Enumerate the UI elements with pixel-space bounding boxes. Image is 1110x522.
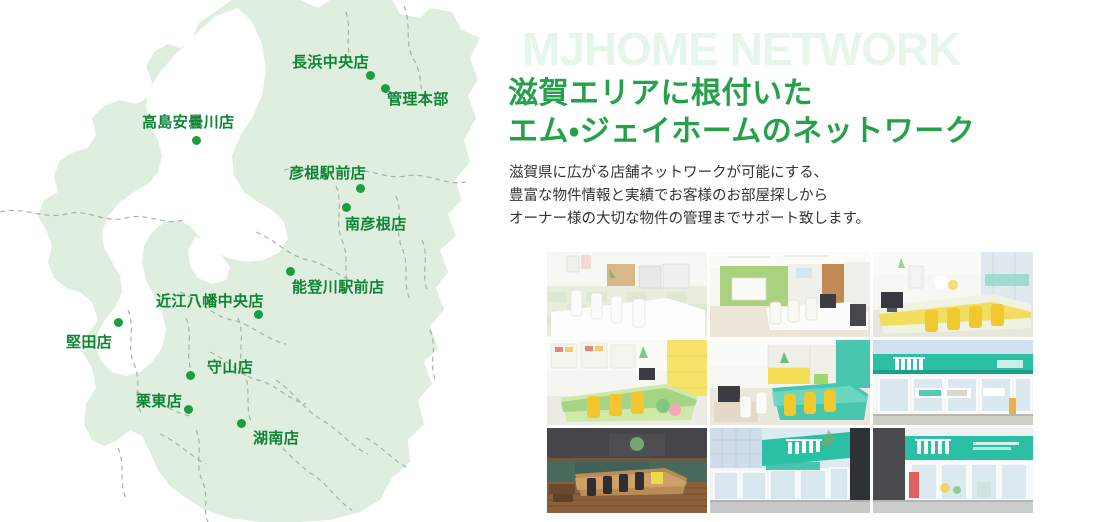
map-store-label[interactable]: 長浜中央店 [292,55,369,70]
map-store-label[interactable]: 管理本部 [387,92,449,107]
shiga-map-graphic [0,0,500,522]
headline-line-2: エム・ジェイホームのネットワーク [508,113,975,151]
map-marker-dot[interactable] [184,405,193,414]
map-store-label[interactable]: 彦根駅前店 [289,166,366,181]
map-marker-dot[interactable] [114,318,123,327]
lead-line-3: オーナー様の大切な物件の管理までサポート致します。 [509,208,870,231]
map-marker-dot[interactable] [366,71,375,80]
map-marker-dot[interactable] [342,203,351,212]
map-store-label[interactable]: 守山店 [207,360,253,375]
map-marker-dot[interactable] [192,136,201,145]
page-root: 長浜中央店管理本部高島安曇川店彦根駅前店南彦根店能登川駅前店近江八幡中央店堅田店… [0,0,1110,522]
map-store-label[interactable]: 近江八幡中央店 [156,294,264,309]
store-photo[interactable] [710,428,870,513]
map-marker-dot[interactable] [237,419,246,428]
headline-line-1: 滋賀エリアに根付いた [508,75,975,113]
store-photo[interactable] [710,340,870,425]
store-photo[interactable] [547,252,707,337]
map-marker-dot[interactable] [254,310,263,319]
store-photo[interactable] [873,340,1033,425]
map-marker-dot[interactable] [186,371,195,380]
map-store-label[interactable]: 堅田店 [66,335,112,350]
store-photo[interactable] [873,252,1033,337]
map-store-label[interactable]: 南彦根店 [345,217,407,232]
map-store-label[interactable]: 能登川駅前店 [292,280,384,295]
map-marker-dot[interactable] [356,184,365,193]
watermark-text: MJHOME NETWORK [522,26,960,72]
lead-paragraph: 滋賀県に広がる店舗ネットワークが可能にする、 豊富な物件情報と実績でお客様のお部… [509,162,870,231]
map-store-label[interactable]: 栗東店 [136,394,182,409]
hero-pane: MJHOME NETWORK 滋賀エリアに根付いた エム・ジェイホームのネットワ… [500,0,1110,522]
store-photo[interactable] [710,252,870,337]
map-pane: 長浜中央店管理本部高島安曇川店彦根駅前店南彦根店能登川駅前店近江八幡中央店堅田店… [0,0,500,522]
map-store-label[interactable]: 湖南店 [253,431,299,446]
page-title: 滋賀エリアに根付いた エム・ジェイホームのネットワーク [508,75,975,151]
store-photo[interactable] [547,340,707,425]
store-photo-grid [547,252,1032,513]
lead-line-1: 滋賀県に広がる店舗ネットワークが可能にする、 [509,162,870,185]
store-photo[interactable] [547,428,707,513]
store-photo[interactable] [873,428,1033,513]
map-marker-dot[interactable] [286,267,295,276]
map-store-label[interactable]: 高島安曇川店 [142,115,234,130]
lead-line-2: 豊富な物件情報と実績でお客様のお部屋探しから [509,185,870,208]
